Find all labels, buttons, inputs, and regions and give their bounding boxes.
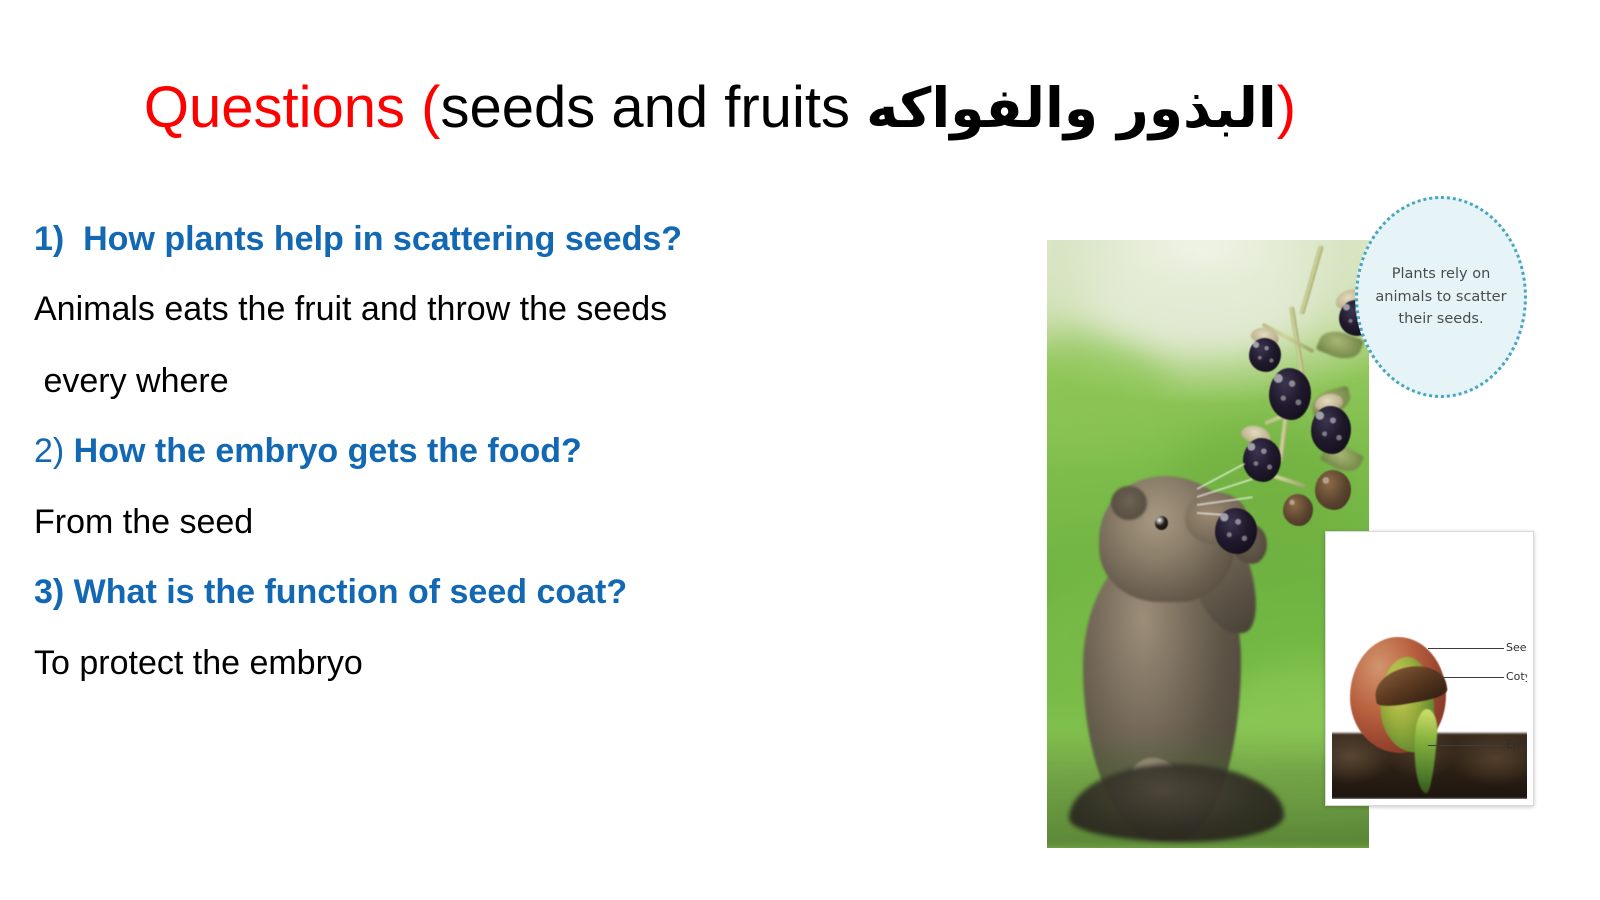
blackberry-unripe — [1315, 470, 1351, 510]
grass-blotch — [1047, 330, 1167, 450]
label-cotyledon: Cotyledon — [1506, 670, 1527, 683]
callout-bubble: Plants rely on animals to scatter their … — [1355, 196, 1527, 398]
label-embryo: Embryo — [1506, 738, 1527, 751]
label-seed-coat: Seed coat — [1506, 641, 1527, 654]
blackberry — [1249, 338, 1281, 372]
answer-text: every where — [34, 362, 229, 400]
title-arabic: البذور والفواكه — [866, 76, 1277, 140]
question-item-2: 2) How the embryo gets the food? — [34, 434, 934, 505]
question-text-3: What is the function of seed coat? — [64, 573, 627, 611]
leader-line-seed-coat — [1428, 648, 1504, 649]
seed-diagram-inset: Seed coat Cotyledon Embryo — [1325, 531, 1534, 806]
vole-ear — [1111, 486, 1147, 520]
answer-1-line-2: every where — [34, 364, 934, 434]
questions-list: 1) How plants help in scattering seeds? … — [34, 222, 934, 706]
answer-3-line-1: To protect the embryo — [34, 646, 934, 706]
answer-text: From the seed — [34, 503, 253, 541]
question-item-3: 3) What is the function of seed coat? — [34, 575, 934, 646]
blackberry — [1311, 406, 1351, 454]
question-number-2: 2) — [34, 432, 64, 470]
title-black-middle: seeds and fruits — [440, 75, 866, 140]
bramble-stem — [1299, 245, 1324, 316]
slide-canvas: Questions (seeds and fruits البذور والفو… — [0, 0, 1600, 900]
blackberry — [1243, 438, 1281, 482]
blackberry-held — [1215, 508, 1257, 554]
answer-text: Animals eats the fruit and throw the see… — [34, 290, 667, 328]
title-red-suffix: ) — [1277, 75, 1296, 140]
seed-diagram-canvas: Seed coat Cotyledon Embryo — [1332, 538, 1527, 799]
title-red-prefix: Questions ( — [144, 75, 441, 140]
question-text-1: How plants help in scattering seeds? — [64, 220, 682, 258]
answer-2-line-1: From the seed — [34, 505, 934, 575]
leader-line-embryo — [1428, 745, 1504, 746]
vole-eye — [1155, 516, 1168, 530]
answer-text: To protect the embryo — [34, 644, 363, 682]
question-number-3: 3) — [34, 573, 64, 611]
page-title: Questions (seeds and fruits البذور والفو… — [0, 78, 1440, 139]
blackberry — [1269, 368, 1311, 420]
question-text-2: How the embryo gets the food? — [64, 432, 582, 470]
leader-line-cotyledon — [1436, 677, 1504, 678]
blackberry-unripe — [1283, 494, 1313, 526]
question-item-1: 1) How plants help in scattering seeds? — [34, 222, 934, 292]
question-number-1: 1) — [34, 220, 64, 258]
vole-blackberry-photo — [1047, 240, 1369, 848]
answer-1-line-1: Animals eats the fruit and throw the see… — [34, 292, 934, 364]
callout-text: Plants rely on animals to scatter their … — [1375, 263, 1507, 330]
